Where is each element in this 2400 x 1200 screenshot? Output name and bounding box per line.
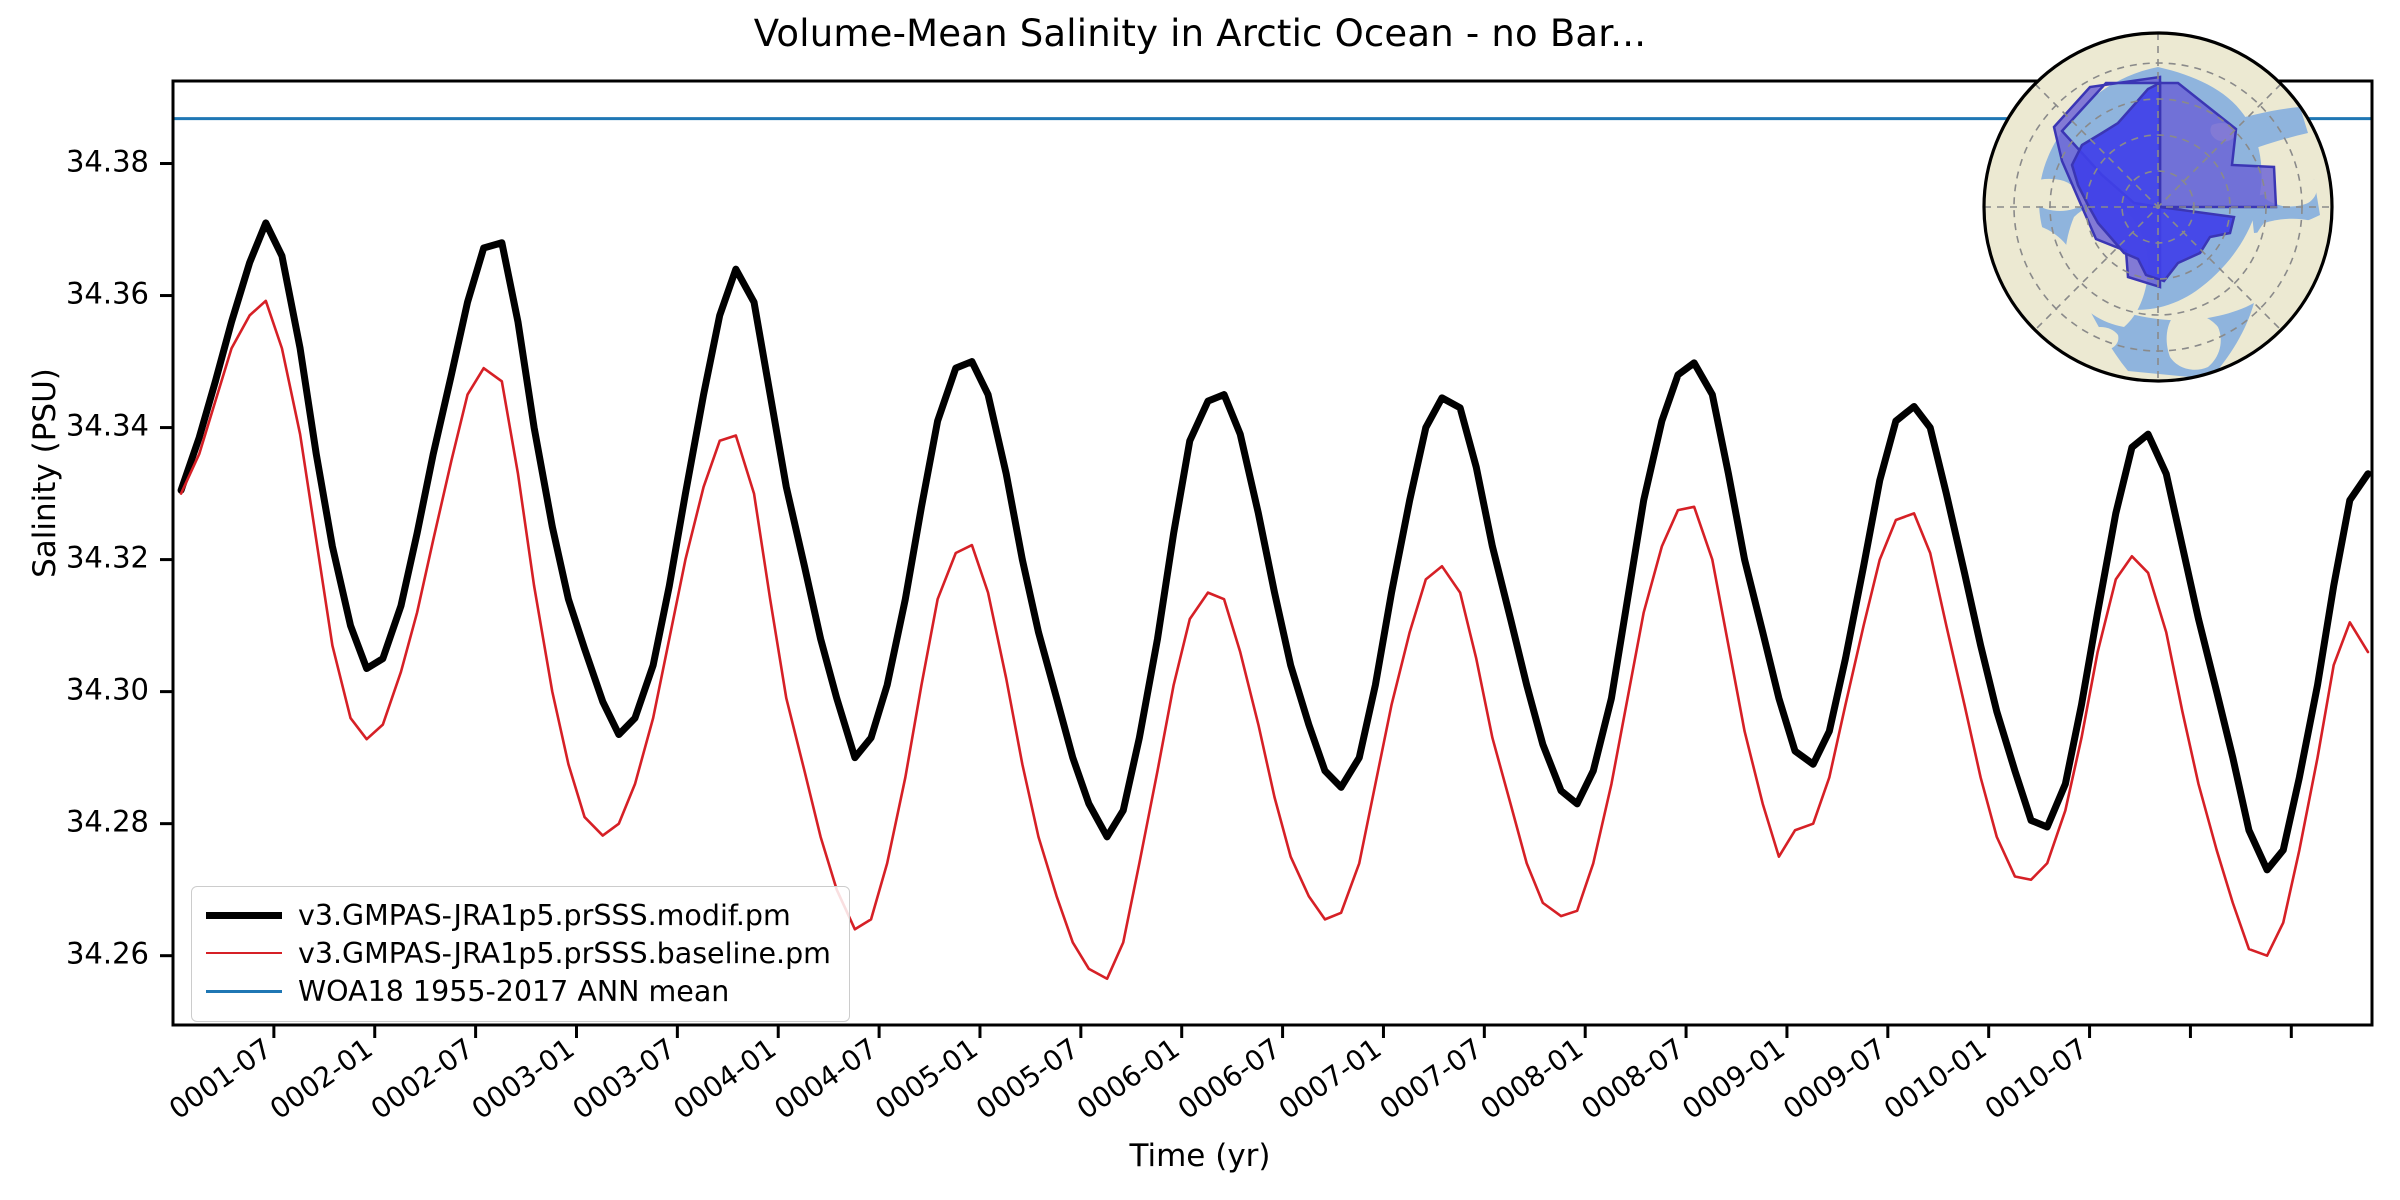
x-tick-label: 0007-01 — [1273, 1032, 1388, 1126]
legend-color-swatch — [206, 990, 282, 993]
x-tick-label: 0004-01 — [667, 1032, 782, 1126]
y-tick-label: 34.34 — [66, 409, 149, 443]
y-tick-label: 34.30 — [66, 673, 149, 707]
figure-canvas: Volume-Mean Salinity in Arctic Ocean - n… — [0, 0, 2400, 1200]
legend-color-swatch — [206, 952, 282, 954]
legend-item-label: v3.GMPAS-JRA1p5.prSSS.baseline.pm — [298, 937, 831, 970]
x-tick-label: 0005-07 — [970, 1032, 1085, 1126]
x-tick-label: 0002-07 — [365, 1032, 480, 1126]
x-tick-label: 0003-01 — [466, 1032, 581, 1126]
x-tick-label: 0006-01 — [1071, 1032, 1186, 1126]
legend-item-label: v3.GMPAS-JRA1p5.prSSS.modif.pm — [298, 899, 791, 932]
x-tick-label: 0001-07 — [163, 1032, 278, 1126]
y-axis-ticks: 34.2634.2834.3034.3234.3434.3634.38 — [66, 145, 173, 971]
x-tick-label: 0009-01 — [1676, 1032, 1791, 1126]
legend-item-label: WOA18 1955-2017 ANN mean — [298, 975, 729, 1008]
y-tick-label: 34.28 — [66, 805, 149, 839]
x-tick-label: 0009-07 — [1777, 1032, 1892, 1126]
y-tick-label: 34.26 — [66, 937, 149, 971]
y-tick-label: 34.36 — [66, 277, 149, 311]
y-tick-label: 34.38 — [66, 145, 149, 179]
x-tick-label: 0004-07 — [768, 1032, 883, 1126]
y-tick-label: 34.32 — [66, 541, 149, 575]
x-tick-label: 0007-07 — [1374, 1032, 1489, 1126]
arctic-region-inset-map — [1978, 27, 2338, 387]
x-tick-label: 0010-07 — [1979, 1032, 2094, 1126]
x-tick-label: 0003-07 — [567, 1032, 682, 1126]
x-axis-ticks: 0001-070002-010002-070003-010003-070004-… — [163, 1025, 2291, 1126]
x-tick-label: 0010-01 — [1878, 1032, 1993, 1126]
legend-item[interactable]: v3.GMPAS-JRA1p5.prSSS.modif.pm — [206, 896, 831, 934]
legend-item[interactable]: WOA18 1955-2017 ANN mean — [206, 972, 831, 1010]
x-tick-label: 0002-01 — [264, 1032, 379, 1126]
legend-item[interactable]: v3.GMPAS-JRA1p5.prSSS.baseline.pm — [206, 934, 831, 972]
x-tick-label: 0005-01 — [869, 1032, 984, 1126]
x-tick-label: 0008-07 — [1575, 1032, 1690, 1126]
x-tick-label: 0006-07 — [1172, 1032, 1287, 1126]
x-tick-label: 0008-01 — [1474, 1032, 1589, 1126]
legend-color-swatch — [206, 912, 282, 919]
chart-legend[interactable]: v3.GMPAS-JRA1p5.prSSS.modif.pmv3.GMPAS-J… — [191, 886, 850, 1022]
